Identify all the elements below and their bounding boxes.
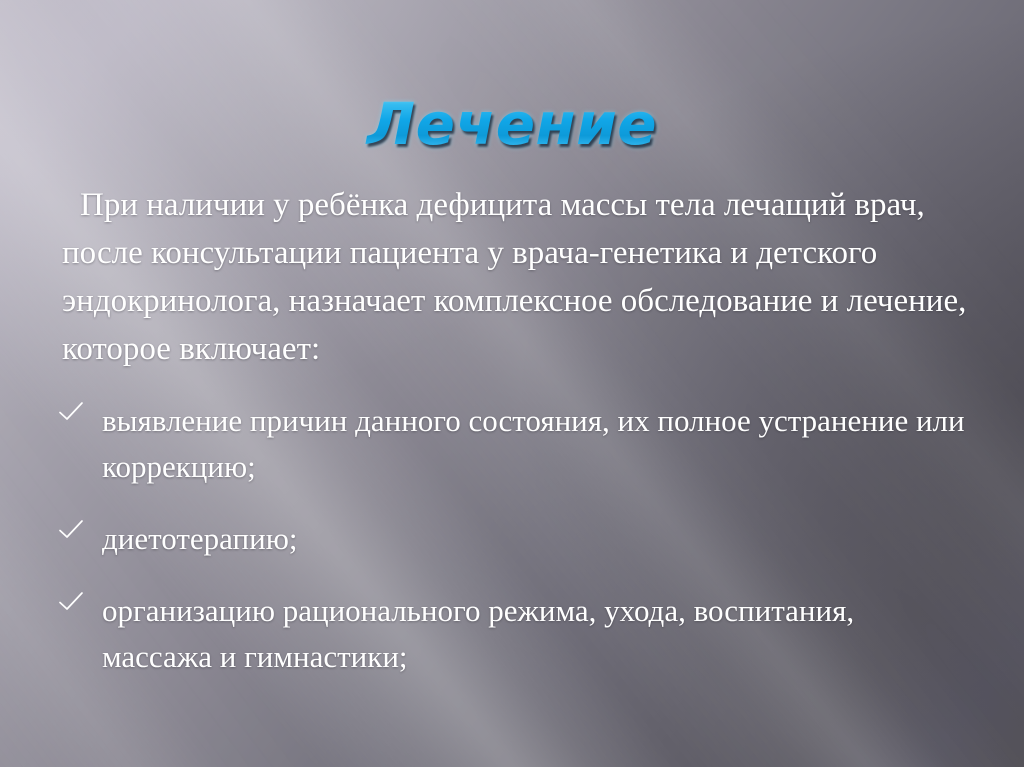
list-item-label: организацию рационального режима, ухода,… [102, 593, 854, 674]
slide-title: Лечение [0, 95, 1024, 153]
bullet-list: выявление причин данного состояния, их п… [56, 398, 971, 680]
intro-paragraph: При наличии у ребёнка дефицита массы тел… [62, 181, 967, 373]
check-icon [58, 589, 84, 615]
check-icon [58, 517, 84, 543]
list-item-label: выявление причин данного состояния, их п… [102, 403, 965, 484]
list-item: выявление причин данного состояния, их п… [56, 398, 971, 490]
list-item-label: диетотерапию; [102, 521, 297, 556]
list-item: диетотерапию; [56, 516, 971, 562]
list-item: организацию рационального режима, ухода,… [56, 588, 971, 680]
presentation-slide: Лечение При наличии у ребёнка дефицита м… [0, 0, 1024, 767]
slide-content: Лечение При наличии у ребёнка дефицита м… [0, 0, 1024, 767]
check-icon [58, 399, 84, 425]
